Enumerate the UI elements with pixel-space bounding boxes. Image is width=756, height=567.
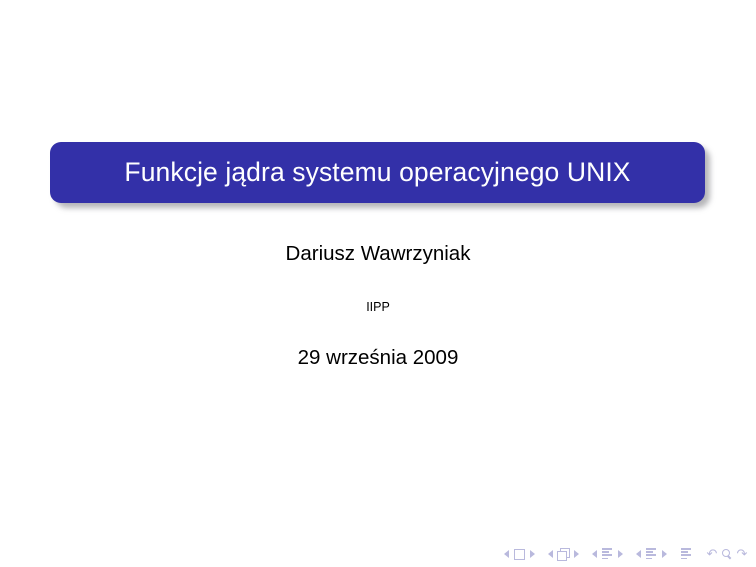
next-section-icon[interactable] — [662, 550, 667, 558]
presentation-navigation-group[interactable] — [680, 548, 693, 560]
page-title: Funkcje jądra systemu operacyjnego UNIX — [124, 159, 630, 186]
document-lines-icon[interactable] — [601, 548, 614, 560]
previous-section-icon[interactable] — [636, 550, 641, 558]
document-lines-icon[interactable] — [645, 548, 658, 560]
author-name: Dariusz Wawrzyniak — [0, 242, 756, 266]
section-navigation-group[interactable] — [636, 548, 667, 560]
previous-frame-icon[interactable] — [548, 550, 553, 558]
square-icon[interactable] — [513, 548, 526, 560]
presentation-date: 29 września 2009 — [0, 346, 756, 370]
forward-arrow-icon[interactable]: ↷ — [736, 548, 748, 560]
title-box: Funkcje jądra systemu operacyjnego UNIX — [50, 142, 705, 203]
previous-subsection-icon[interactable] — [592, 550, 597, 558]
institute-name: IIPP — [0, 300, 756, 314]
navigation-symbols-bar[interactable]: ↶ ↷ — [504, 545, 748, 563]
next-slide-icon[interactable] — [530, 550, 535, 558]
next-frame-icon[interactable] — [574, 550, 579, 558]
document-lines-icon[interactable] — [680, 548, 693, 560]
title-block: Funkcje jądra systemu operacyjnego UNIX — [50, 142, 705, 203]
stacked-squares-icon[interactable] — [557, 548, 570, 560]
magnifier-icon[interactable] — [721, 548, 733, 560]
history-navigation-group[interactable]: ↶ ↷ — [706, 548, 748, 560]
slide-navigation-group[interactable] — [504, 548, 535, 560]
next-subsection-icon[interactable] — [618, 550, 623, 558]
subsection-navigation-group[interactable] — [592, 548, 623, 560]
presentation-slide: Funkcje jądra systemu operacyjnego UNIX … — [0, 0, 756, 567]
back-arrow-icon[interactable]: ↶ — [706, 548, 718, 560]
previous-slide-icon[interactable] — [504, 550, 509, 558]
frame-navigation-group[interactable] — [548, 548, 579, 560]
